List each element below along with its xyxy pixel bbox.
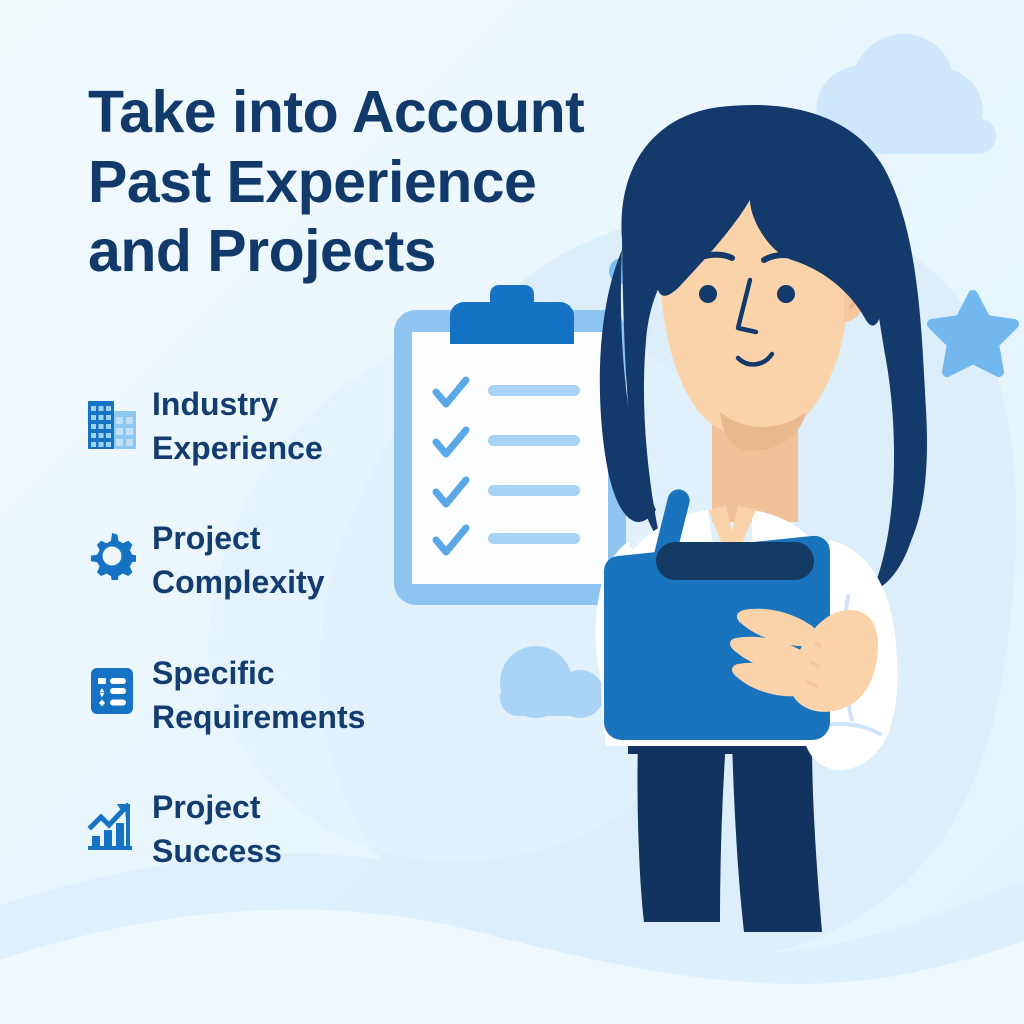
feature-label-line-2: Requirements [152, 699, 365, 735]
feature-label-line-2: Experience [152, 430, 323, 466]
feature-label-project-success: Project Success [152, 781, 282, 873]
checklist-document-icon [86, 663, 138, 719]
growth-chart-icon [86, 797, 138, 853]
gear-icon [86, 528, 138, 584]
poster-canvas: Take into Account Past Experience and Pr… [0, 0, 1024, 1024]
woman-holding-clipboard-illustration [360, 40, 1024, 1024]
eye-right [777, 285, 795, 303]
feature-label-project-complexity: Project Complexity [152, 512, 324, 604]
feature-label-industry-experience: Industry Experience [152, 378, 323, 470]
eye-left [699, 285, 717, 303]
woman-character [596, 105, 927, 932]
feature-label-line-1: Project [152, 789, 260, 825]
held-clipboard-clip [656, 542, 814, 580]
feature-label-line-1: Industry [152, 386, 278, 422]
feature-label-line-2: Complexity [152, 564, 324, 600]
feature-label-line-2: Success [152, 833, 282, 869]
trousers [628, 724, 822, 932]
feature-label-line-1: Project [152, 520, 260, 556]
feature-label-specific-requirements: Specific Requirements [152, 647, 365, 739]
feature-label-line-1: Specific [152, 655, 275, 691]
standing-clipboard-checklist [394, 285, 626, 605]
office-buildings-icon [86, 394, 138, 450]
